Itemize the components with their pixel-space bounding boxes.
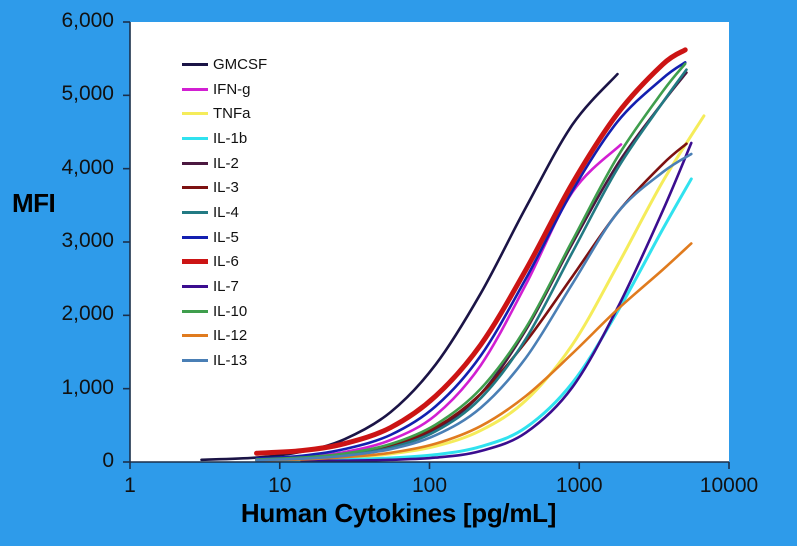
y-axis-tick-label: 4,000 xyxy=(18,156,114,180)
legend-label: IL-1b xyxy=(213,131,247,146)
legend-label: IL-10 xyxy=(213,304,247,319)
legend-label: IL-5 xyxy=(213,230,239,245)
legend-color-swatch xyxy=(182,236,208,239)
x-axis-title: Human Cytokines [pg/mL] xyxy=(0,498,797,529)
legend-color-swatch xyxy=(182,186,208,189)
legend-item-ifn-g: IFN-g xyxy=(182,77,312,102)
legend-label: IL-12 xyxy=(213,328,247,343)
legend-item-il-10: IL-10 xyxy=(182,299,312,324)
legend-item-il-3: IL-3 xyxy=(182,175,312,200)
legend-color-swatch xyxy=(182,112,208,115)
legend-item-il-2: IL-2 xyxy=(182,151,312,176)
y-axis-title: MFI xyxy=(12,188,55,219)
legend-label: TNFa xyxy=(213,106,251,121)
legend-color-swatch xyxy=(182,310,208,313)
legend-item-il-5: IL-5 xyxy=(182,225,312,250)
legend-item-il-1b: IL-1b xyxy=(182,126,312,151)
legend-item-gmcsf: GMCSF xyxy=(182,52,312,77)
legend-color-swatch xyxy=(182,88,208,91)
legend-color-swatch xyxy=(182,162,208,165)
x-axis-tick-label: 1000 xyxy=(556,474,603,498)
x-axis-tick-label: 10 xyxy=(268,474,291,498)
x-axis-tick-label: 10000 xyxy=(700,474,758,498)
legend-item-il-7: IL-7 xyxy=(182,274,312,299)
legend-label: IL-2 xyxy=(213,156,239,171)
chart-legend: GMCSFIFN-gTNFaIL-1bIL-2IL-3IL-4IL-5IL-6I… xyxy=(182,52,312,373)
legend-label: IL-13 xyxy=(213,353,247,368)
chart-canvas xyxy=(0,0,797,546)
legend-color-swatch xyxy=(182,359,208,362)
legend-color-swatch xyxy=(182,211,208,214)
legend-item-il-6: IL-6 xyxy=(182,250,312,275)
legend-color-swatch xyxy=(182,63,208,66)
legend-color-swatch xyxy=(182,137,208,140)
legend-label: IFN-g xyxy=(213,82,251,97)
y-axis-tick-label: 5,000 xyxy=(18,82,114,106)
legend-color-swatch xyxy=(182,259,208,264)
y-axis-tick-label: 0 xyxy=(18,449,114,473)
chart-root: MFI Human Cytokines [pg/mL] 01,0002,0003… xyxy=(0,0,797,546)
legend-label: IL-4 xyxy=(213,205,239,220)
legend-color-swatch xyxy=(182,334,208,337)
y-axis-tick-label: 2,000 xyxy=(18,302,114,326)
legend-label: IL-3 xyxy=(213,180,239,195)
legend-item-il-13: IL-13 xyxy=(182,348,312,373)
legend-color-swatch xyxy=(182,285,208,288)
legend-item-tnfa: TNFa xyxy=(182,101,312,126)
legend-item-il-4: IL-4 xyxy=(182,200,312,225)
y-axis-tick-label: 6,000 xyxy=(18,9,114,33)
x-axis-tick-label: 1 xyxy=(124,474,136,498)
x-axis-tick-label: 100 xyxy=(412,474,447,498)
y-axis-tick-label: 1,000 xyxy=(18,376,114,400)
y-axis-tick-label: 3,000 xyxy=(18,229,114,253)
legend-label: IL-6 xyxy=(213,254,239,269)
legend-label: IL-7 xyxy=(213,279,239,294)
legend-label: GMCSF xyxy=(213,57,267,72)
legend-item-il-12: IL-12 xyxy=(182,324,312,349)
